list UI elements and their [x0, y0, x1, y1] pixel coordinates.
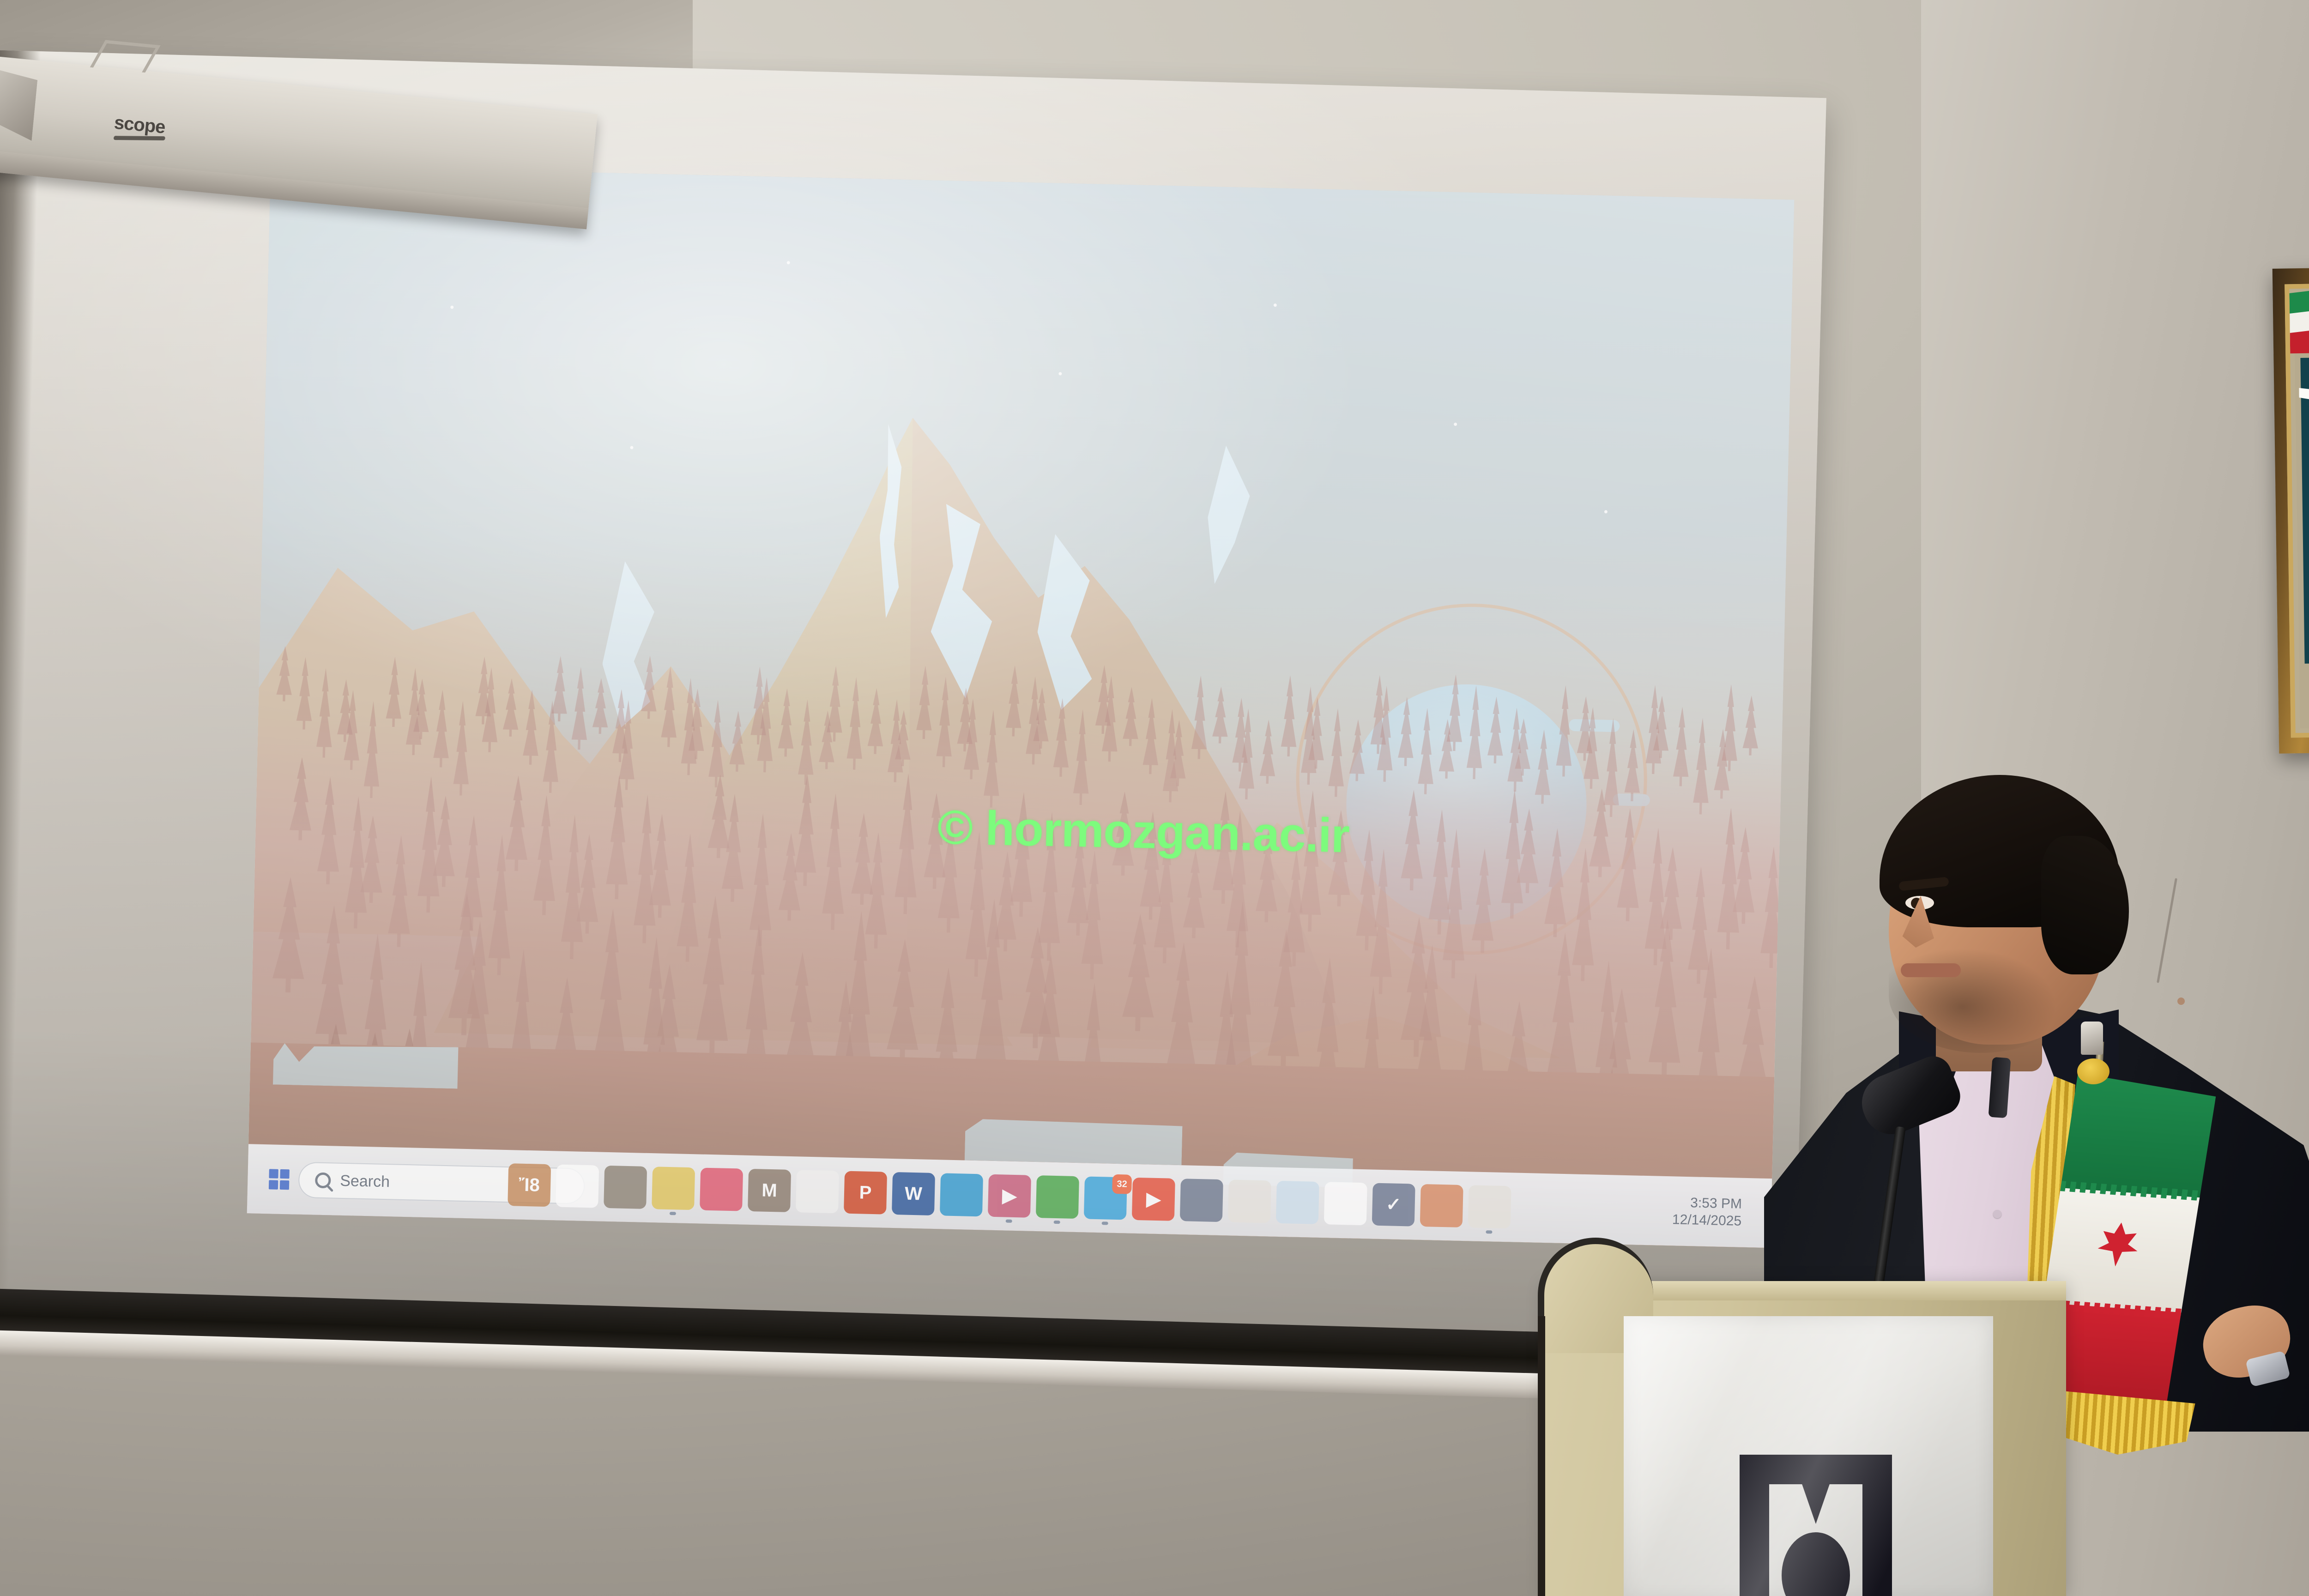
telegram-icon[interactable]: 32	[1084, 1176, 1127, 1220]
analytics-icon[interactable]	[1324, 1182, 1367, 1225]
microsoft-store-icon[interactable]	[1180, 1179, 1223, 1222]
youtube-icon[interactable]: ▶	[1132, 1178, 1175, 1221]
running-indicator	[1102, 1221, 1108, 1225]
pine-tree	[274, 646, 296, 701]
taskbar-clock[interactable]: 3:53 PM 12/14/2025	[1672, 1194, 1742, 1230]
roller-brand-label: scope	[113, 112, 166, 138]
copyright-watermark: © hormozgan.ac.ir	[937, 800, 1350, 864]
snow-field	[965, 1119, 1183, 1166]
chatgpt-icon[interactable]	[796, 1170, 839, 1213]
search-placeholder: Search	[340, 1172, 390, 1191]
edge-icon[interactable]	[940, 1173, 983, 1216]
clock-date: 12/14/2025	[1672, 1211, 1742, 1230]
taskbar-pinned-apps[interactable]: Ἴ8MPW▶32▶✓	[508, 1163, 1511, 1228]
speaker-beard	[1889, 937, 2073, 1053]
podium-edge-trim	[1538, 1316, 1545, 1596]
portrait-iran-flag	[2289, 288, 2309, 354]
podium-banner	[1624, 1316, 1993, 1596]
flag-finial	[2081, 1022, 2103, 1055]
start-button[interactable]	[269, 1169, 290, 1190]
podium	[1544, 1288, 2066, 1596]
running-indicator	[1486, 1230, 1492, 1233]
running-indicator	[1054, 1221, 1060, 1224]
powerpoint-icon[interactable]: P	[844, 1171, 887, 1215]
flag-tassel-knot	[2077, 1058, 2110, 1084]
banner-plastic-sheen	[1624, 1316, 1993, 1596]
orange-app-icon[interactable]	[1420, 1184, 1463, 1227]
presentation-hall-photo: Search Ἴ8MPW▶32▶✓ 3:53 PM 12/14/2025 sco…	[0, 0, 2309, 1596]
file-explorer-icon[interactable]	[652, 1167, 695, 1210]
checkmark-app-icon[interactable]: ✓	[1372, 1183, 1415, 1227]
media-player-icon[interactable]: ▶	[988, 1174, 1031, 1218]
framed-portrait	[2273, 267, 2309, 753]
pine-tree	[1003, 665, 1025, 737]
notification-badge: 32	[1112, 1174, 1132, 1194]
running-indicator	[670, 1212, 676, 1215]
speaker-mouth	[1901, 963, 1961, 977]
chrome-beta-icon[interactable]	[1468, 1185, 1511, 1228]
chrome-icon[interactable]	[1228, 1179, 1271, 1223]
widgets-icon[interactable]: Ἴ8	[508, 1163, 551, 1207]
portrait-canvas	[2285, 283, 2309, 738]
whatsapp-icon[interactable]	[1036, 1175, 1079, 1219]
notepad-icon[interactable]: M	[748, 1169, 791, 1212]
running-indicator	[1006, 1220, 1012, 1223]
search-icon	[315, 1173, 331, 1189]
clock-time: 3:53 PM	[1672, 1194, 1742, 1213]
word-icon[interactable]: W	[892, 1172, 935, 1215]
task-view-icon[interactable]	[604, 1166, 647, 1209]
instagram-icon[interactable]	[700, 1168, 743, 1211]
pine-tree	[639, 655, 660, 719]
notes-app-icon[interactable]	[1276, 1181, 1319, 1224]
projected-desktop: Search Ἴ8MPW▶32▶✓ 3:53 PM 12/14/2025	[247, 165, 1795, 1248]
copilot-icon[interactable]	[556, 1164, 599, 1208]
pine-tree	[549, 656, 571, 722]
